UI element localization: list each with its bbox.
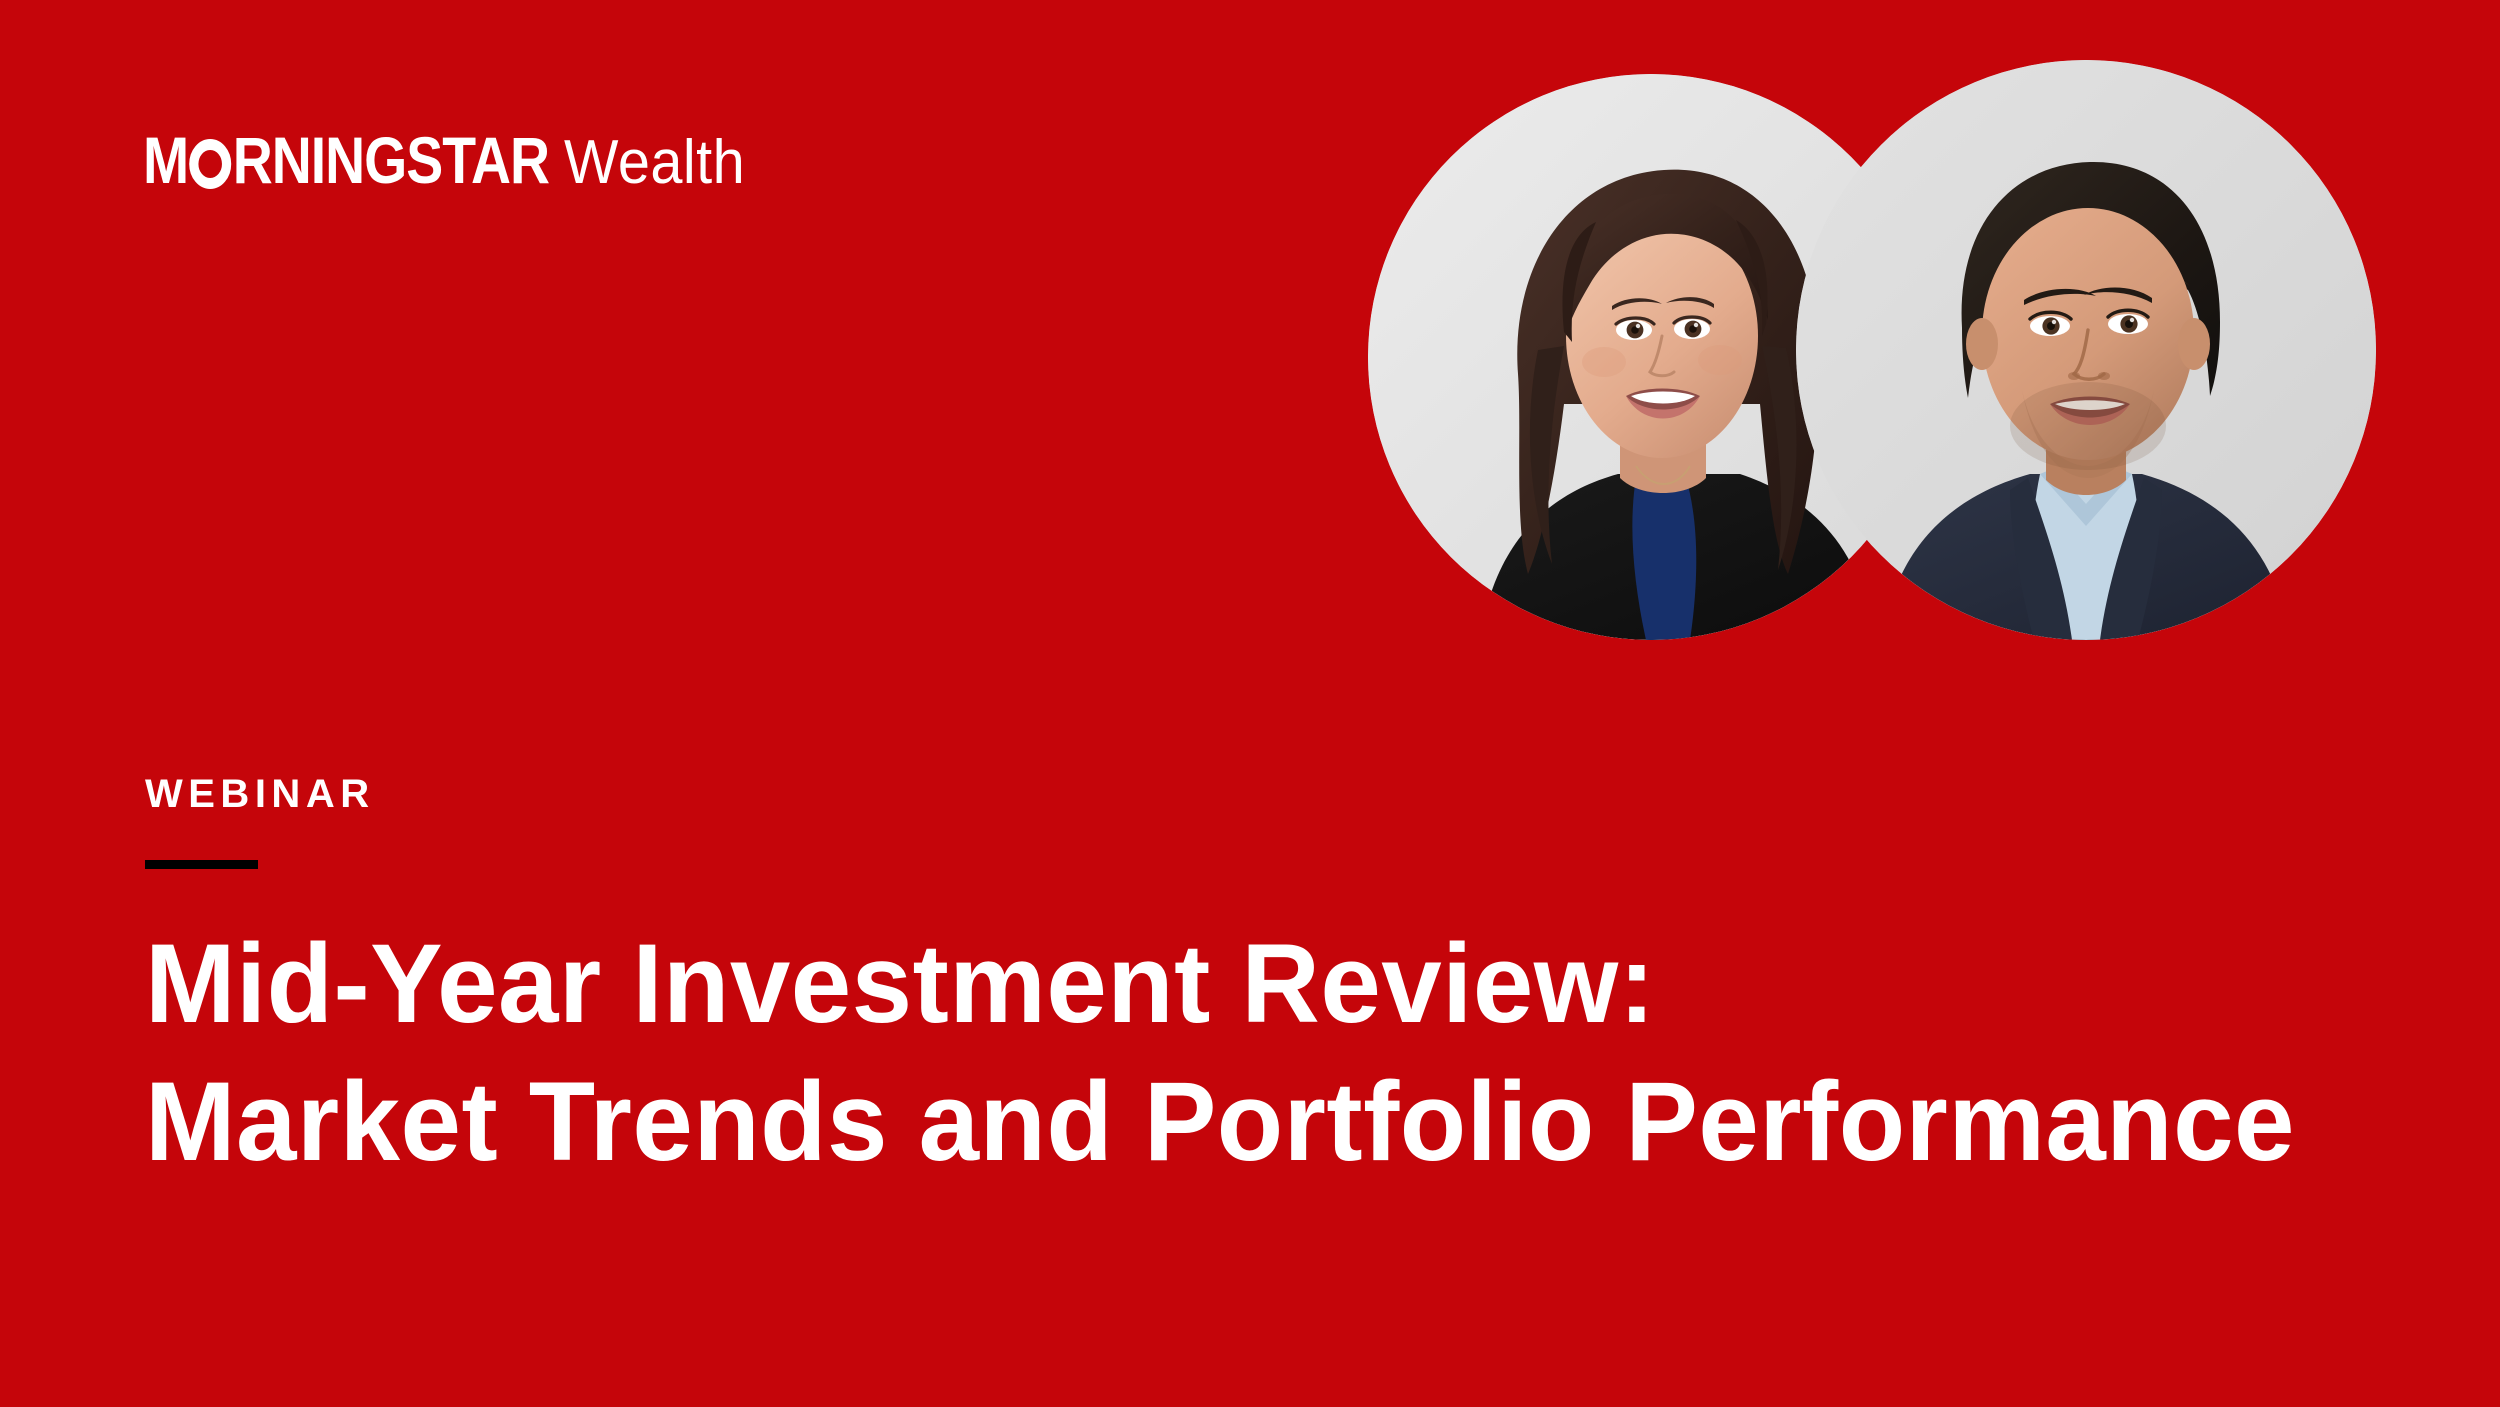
logo-suffix-wealth: Wealth [564, 131, 745, 195]
logo-letters-rningstar: RNINGSTAR [233, 128, 549, 192]
speaker-portraits [1368, 50, 2378, 630]
speaker-portrait-right [1796, 60, 2376, 640]
page-title: Mid-Year Investment Review: Market Trend… [145, 915, 2279, 1191]
morningstar-wordmark: M RNINGSTAR [143, 128, 549, 192]
logo-letter-m: M [143, 128, 188, 192]
eyebrow-label: WEBINAR [145, 772, 2345, 816]
headline-block: WEBINAR Mid-Year Investment Review: Mark… [145, 772, 2345, 1191]
divider-rule [145, 860, 258, 869]
morningstar-wealth-logo[interactable]: M RNINGSTAR Wealth [143, 128, 759, 195]
man-headshot-illustration [1796, 60, 2376, 640]
title-line-1: Mid-Year Investment Review: [145, 915, 2279, 1053]
promo-banner: M RNINGSTAR Wealth [0, 0, 2500, 1407]
title-line-2: Market Trends and Portfolio Performance [145, 1053, 2279, 1191]
ring-o-icon [189, 139, 231, 189]
